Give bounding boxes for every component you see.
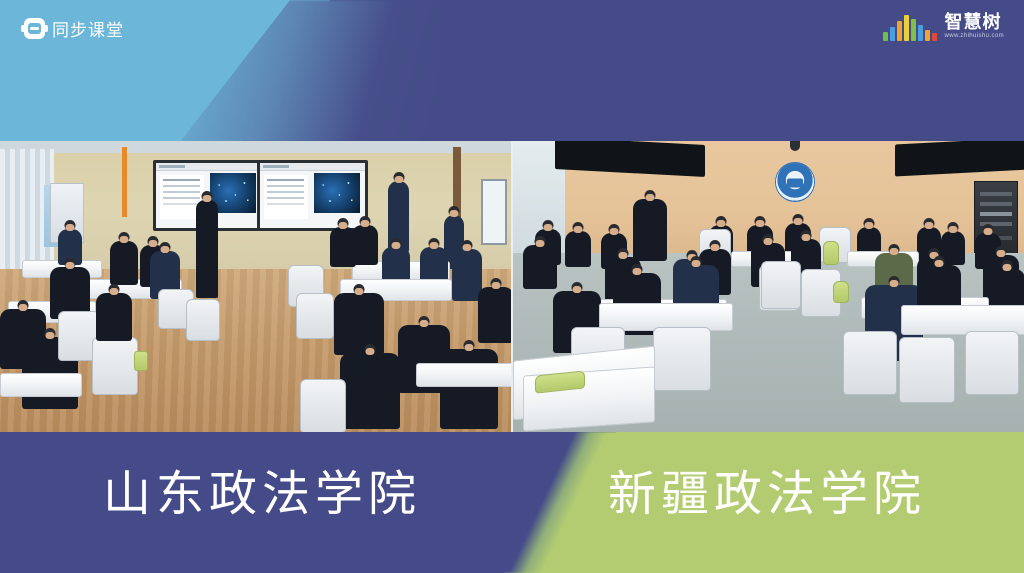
tongbu-ketang-logo-icon bbox=[24, 18, 45, 39]
seated-student bbox=[352, 225, 378, 265]
chair-green-accent bbox=[823, 241, 839, 265]
whiteboard bbox=[481, 179, 507, 245]
zhihuishu-bar-5 bbox=[911, 19, 916, 41]
speaker-standing bbox=[633, 199, 667, 261]
chair bbox=[186, 299, 220, 341]
video-pane-xinjiang[interactable] bbox=[511, 141, 1024, 432]
brand-zhihuishu[interactable]: 智慧树 www.zhihuishu.com bbox=[883, 12, 1005, 41]
classroom-ceiling bbox=[0, 141, 511, 153]
caption-xinjiang: 新疆政法学院 bbox=[608, 466, 926, 524]
tongbu-ketang-label: 同步课堂 bbox=[52, 16, 124, 41]
chair bbox=[899, 337, 955, 403]
university-emblem bbox=[776, 163, 814, 201]
desk bbox=[416, 363, 511, 387]
seated-student-foreground bbox=[440, 349, 498, 429]
seated-student bbox=[110, 241, 138, 285]
seated-student-foreground bbox=[340, 353, 400, 429]
zhihuishu-bar-6 bbox=[918, 25, 923, 41]
chair-green-accent bbox=[833, 281, 849, 303]
zhihuishu-url: www.zhihuishu.com bbox=[945, 32, 1005, 41]
brand-tongbu-ketang[interactable]: 同步课堂 bbox=[24, 16, 124, 41]
chair bbox=[843, 331, 897, 395]
caption-shandong: 山东政法学院 bbox=[103, 466, 421, 524]
chair bbox=[92, 337, 138, 395]
wall-accent-stripe bbox=[122, 147, 127, 217]
zhihuishu-bars-icon bbox=[883, 15, 937, 41]
background-green-diagonal-edge bbox=[484, 432, 624, 573]
chair bbox=[296, 293, 334, 339]
zhihuishu-bar-3 bbox=[897, 21, 902, 41]
presentation-slide: 同步课堂 智慧树 www.zhihuishu.com bbox=[0, 0, 1024, 573]
bottle bbox=[134, 351, 148, 371]
zhihuishu-text-block: 智慧树 www.zhihuishu.com bbox=[945, 12, 1005, 41]
zhihuishu-bar-8 bbox=[932, 33, 937, 41]
seated-student bbox=[478, 287, 511, 343]
dual-video-area bbox=[0, 141, 1024, 432]
chair bbox=[761, 261, 801, 309]
instructor-standing bbox=[196, 200, 218, 298]
display-screen-right bbox=[257, 160, 368, 231]
zhihuishu-bar-4 bbox=[904, 15, 909, 41]
zhihuishu-bar-1 bbox=[883, 32, 888, 41]
zhihuishu-label: 智慧树 bbox=[945, 12, 1002, 32]
chair bbox=[965, 331, 1019, 395]
chair bbox=[300, 379, 346, 432]
seated-student bbox=[96, 293, 132, 341]
chair bbox=[653, 327, 711, 391]
zhihuishu-bar-2 bbox=[890, 27, 895, 41]
ceiling-microphone bbox=[790, 141, 800, 151]
zhihuishu-bar-7 bbox=[925, 30, 930, 41]
video-pane-shandong[interactable] bbox=[0, 141, 511, 432]
desk bbox=[0, 373, 82, 397]
seated-student bbox=[523, 245, 557, 289]
seated-student bbox=[565, 231, 591, 267]
seated-student bbox=[334, 293, 384, 355]
